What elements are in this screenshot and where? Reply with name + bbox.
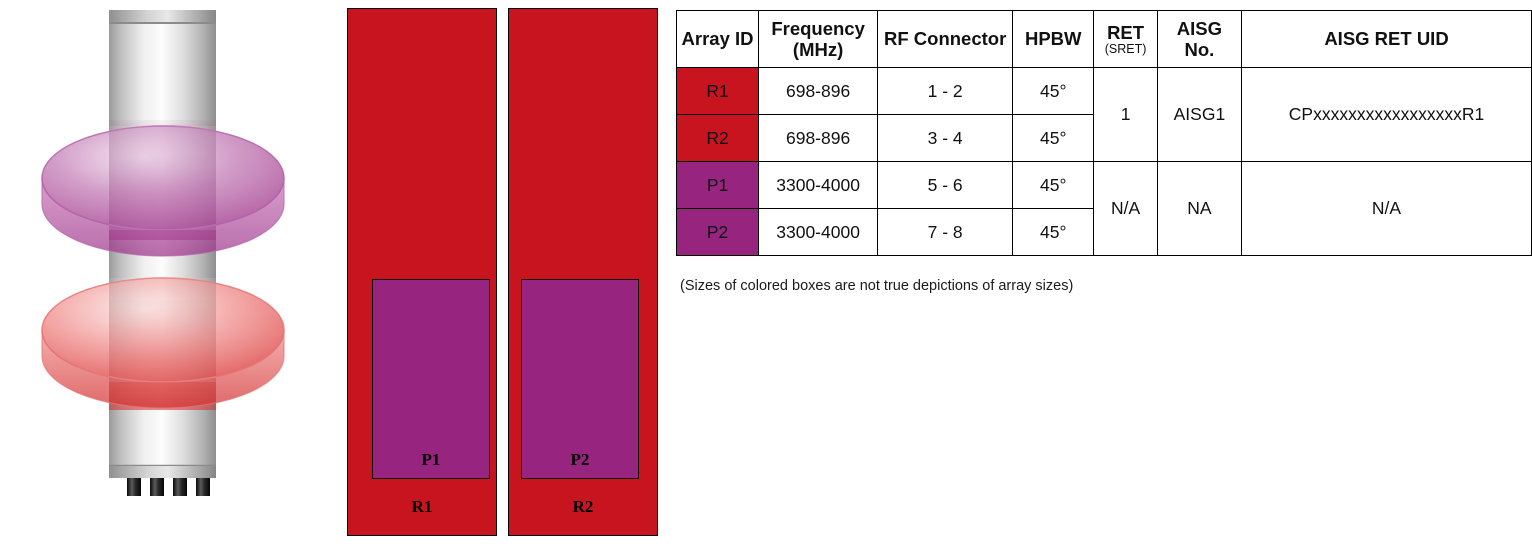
cell-aisg-uid-p-group: N/A <box>1242 162 1532 256</box>
cell-frequency-r2: 698-896 <box>759 115 878 162</box>
header-frequency-line2: (MHz) <box>793 39 843 60</box>
header-ret-sub: (SRET) <box>1098 42 1152 56</box>
cell-rf-connector-p2: 7 - 8 <box>878 209 1013 256</box>
array-specification-table: Array ID Frequency (MHz) RF Connector HP… <box>676 10 1532 256</box>
header-array-id: Array ID <box>677 11 759 68</box>
header-aisg-ret-uid: AISG RET UID <box>1242 11 1532 68</box>
array-subpanel-p2: P2 <box>521 279 639 479</box>
table-caption: (Sizes of colored boxes are not true dep… <box>680 278 1073 294</box>
header-ret: RET (SRET) <box>1094 11 1157 68</box>
rf-connector-stubs <box>127 478 210 496</box>
header-rf-connector: RF Connector <box>878 11 1013 68</box>
cell-array-id-r2: R2 <box>677 115 759 162</box>
cell-array-id-p1: P1 <box>677 162 759 209</box>
table-row: P1 3300-4000 5 - 6 45° N/A NA N/A <box>677 162 1532 209</box>
array-panel-r2-label: R2 <box>509 497 657 517</box>
array-subpanel-p1: P1 <box>372 279 490 479</box>
table-row: R1 698-896 1 - 2 45° 1 AISG1 CPxxxxxxxxx… <box>677 68 1532 115</box>
array-panel-r2: P2 R2 <box>508 8 658 536</box>
cell-frequency-p1: 3300-4000 <box>759 162 878 209</box>
cell-hpbw-r2: 45° <box>1013 115 1094 162</box>
table-header-row: Array ID Frequency (MHz) RF Connector HP… <box>677 11 1532 68</box>
cell-array-id-r1: R1 <box>677 68 759 115</box>
cell-aisg-no-r-group: AISG1 <box>1157 68 1241 162</box>
cell-rf-connector-p1: 5 - 6 <box>878 162 1013 209</box>
cell-ret-r-group: 1 <box>1094 68 1157 162</box>
header-frequency-line1: Frequency <box>771 18 865 39</box>
cell-aisg-uid-r-group: CPxxxxxxxxxxxxxxxxxR1 <box>1242 68 1532 162</box>
array-panel-diagrams: P1 R1 P2 R2 <box>347 8 662 544</box>
header-hpbw: HPBW <box>1013 11 1094 68</box>
array-subpanel-p1-label: P1 <box>373 450 489 470</box>
cell-frequency-p2: 3300-4000 <box>759 209 878 256</box>
header-ret-main: RET <box>1098 22 1152 43</box>
array-panel-r1-label: R1 <box>348 497 496 517</box>
cell-hpbw-p1: 45° <box>1013 162 1094 209</box>
cell-array-id-p2: P2 <box>677 209 759 256</box>
cell-hpbw-r1: 45° <box>1013 68 1094 115</box>
cell-rf-connector-r2: 3 - 4 <box>878 115 1013 162</box>
header-frequency: Frequency (MHz) <box>759 11 878 68</box>
array-subpanel-p2-label: P2 <box>522 450 638 470</box>
cell-rf-connector-r1: 1 - 2 <box>878 68 1013 115</box>
header-aisg-no: AISG No. <box>1157 11 1241 68</box>
cell-frequency-r1: 698-896 <box>759 68 878 115</box>
cell-hpbw-p2: 45° <box>1013 209 1094 256</box>
cell-aisg-no-p-group: NA <box>1157 162 1241 256</box>
array-panel-r1: P1 R1 <box>347 8 497 536</box>
cell-ret-p-group: N/A <box>1094 162 1157 256</box>
antenna-radome-illustration <box>0 0 330 552</box>
